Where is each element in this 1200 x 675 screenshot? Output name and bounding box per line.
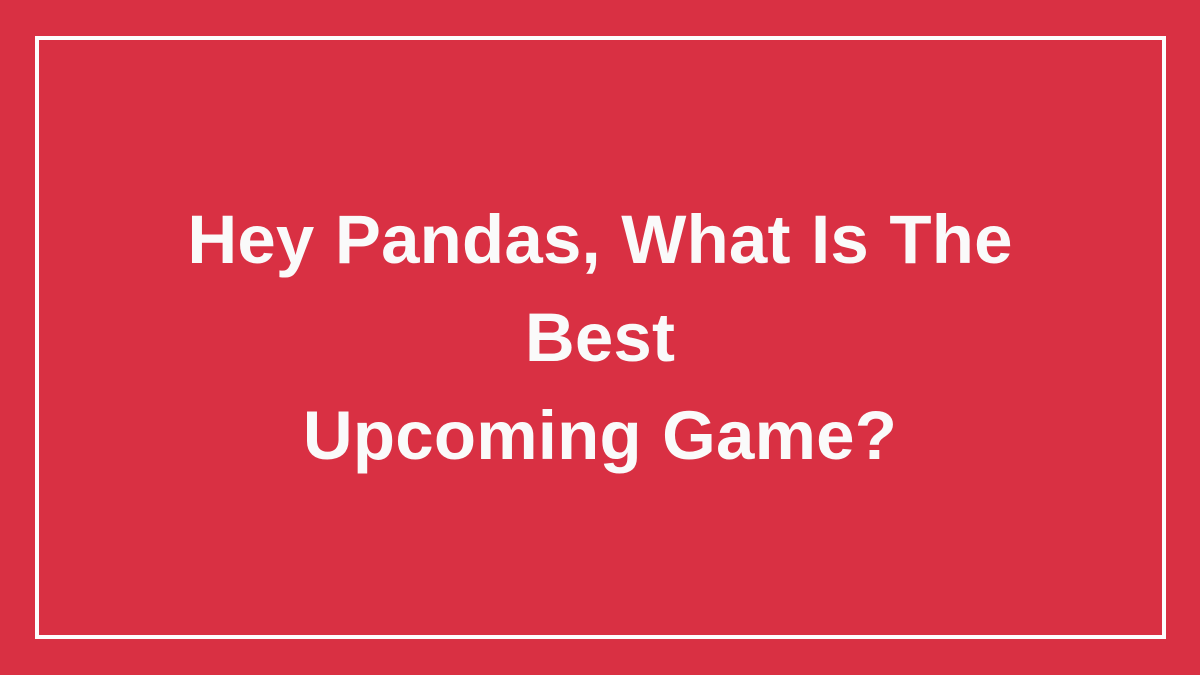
headline-line-2: Upcoming Game?: [120, 387, 1080, 485]
headline-line-1: Hey Pandas, What Is The Best: [120, 191, 1080, 387]
banner-card: Hey Pandas, What Is The Best Upcoming Ga…: [0, 0, 1200, 675]
page-title: Hey Pandas, What Is The Best Upcoming Ga…: [120, 191, 1080, 485]
headline-container: Hey Pandas, What Is The Best Upcoming Ga…: [0, 0, 1200, 675]
